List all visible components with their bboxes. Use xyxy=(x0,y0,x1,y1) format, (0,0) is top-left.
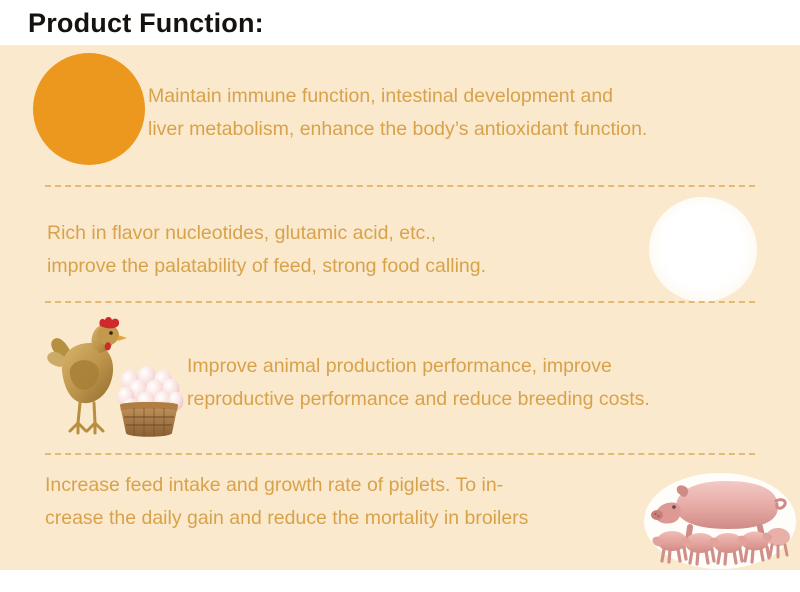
hen-and-egg-basket-glyph xyxy=(38,315,188,447)
divider-1 xyxy=(45,185,755,187)
molecule-cluster-icon xyxy=(643,197,765,302)
benefits-panel: Maintain immune function, intestinal dev… xyxy=(0,45,800,570)
benefit-text-2: Rich in flavor nucleotides, glutamic aci… xyxy=(47,217,486,283)
chicken-anatomy-icon xyxy=(33,53,145,165)
benefit-text-3: Improve animal production performance, i… xyxy=(187,350,650,416)
sow-piglets-icon xyxy=(642,463,797,575)
benefit-text-4: Increase feed intake and growth rate of … xyxy=(45,469,528,535)
benefit-line: Maintain immune function, intestinal dev… xyxy=(148,80,647,113)
product-function-slide: Product Function: xyxy=(0,0,800,592)
hen-eggs-icon xyxy=(38,315,188,447)
benefit-line: crease the daily gain and reduce the mor… xyxy=(45,502,528,535)
benefit-line: improve the palatability of feed, strong… xyxy=(47,250,486,283)
molecule-halo xyxy=(649,197,757,302)
benefit-line: Rich in flavor nucleotides, glutamic aci… xyxy=(47,217,486,250)
benefit-line: liver metabolism, enhance the body’s ant… xyxy=(148,113,647,146)
sow-with-piglets-glyph xyxy=(642,463,797,575)
benefit-line: reproductive performance and reduce bree… xyxy=(187,383,650,416)
benefit-line: Improve animal production performance, i… xyxy=(187,350,650,383)
benefit-line: Increase feed intake and growth rate of … xyxy=(45,469,528,502)
page-title: Product Function: xyxy=(28,4,264,42)
divider-3 xyxy=(45,453,755,455)
benefit-text-1: Maintain immune function, intestinal dev… xyxy=(148,80,647,146)
divider-2 xyxy=(45,301,755,303)
badge-circle xyxy=(33,53,145,165)
